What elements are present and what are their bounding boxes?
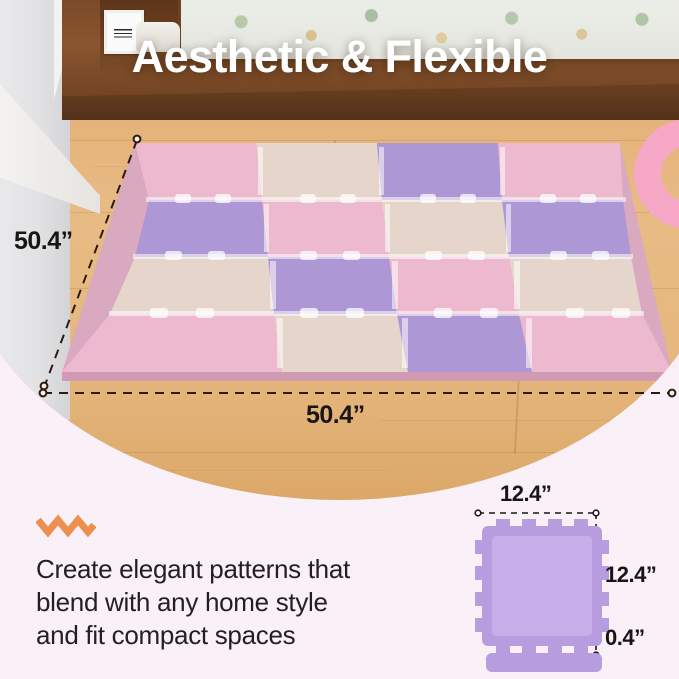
single-tile-diagram: 12.4” 12.4” 0.4” — [460, 470, 679, 679]
mat-height-dimension-label: 50.4” — [14, 227, 73, 256]
puzzle-tile-shape — [475, 519, 609, 653]
tile-thickness-strip — [486, 646, 602, 672]
tile-height-label: 12.4” — [605, 562, 656, 588]
tile-thickness-label: 0.4” — [605, 625, 645, 651]
infographic-root: 50.4” 50.4” Aesthetic & Flexible Create … — [0, 0, 679, 679]
tile-width-label: 12.4” — [500, 481, 551, 507]
zigzag-accent-icon — [36, 512, 96, 538]
body-copy: Create elegant patterns that blend with … — [36, 553, 456, 652]
mat-width-dimension-label: 50.4” — [306, 401, 365, 430]
page-title: Aesthetic & Flexible — [0, 31, 679, 83]
